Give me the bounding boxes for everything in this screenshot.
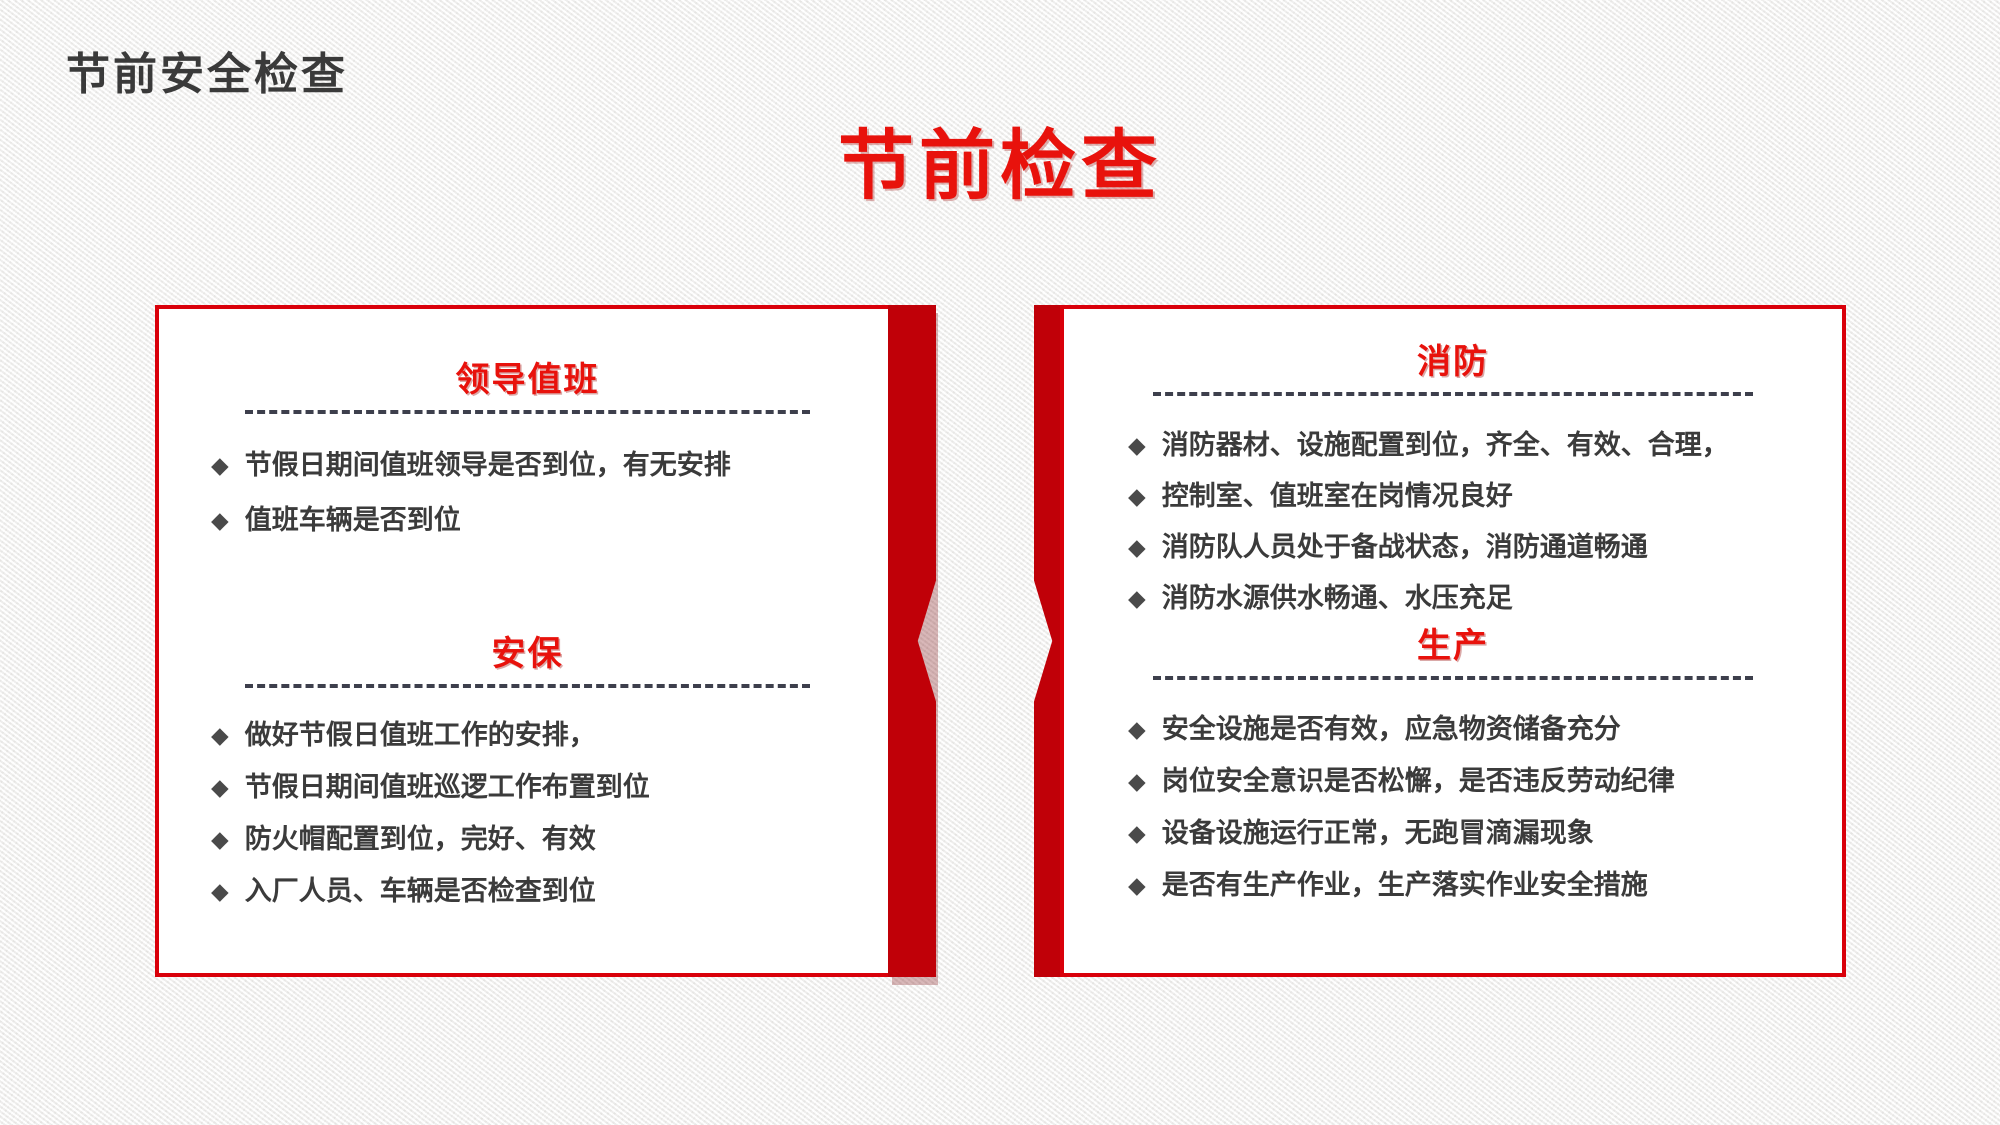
dashed-divider <box>245 684 810 688</box>
list-item: ◆ 值班车辆是否到位 <box>211 507 844 534</box>
list-item: ◆ 防火帽配置到位，完好、有效 <box>211 826 844 853</box>
list-item: ◆ 安全设施是否有效，应急物资储备充分 <box>1128 716 1778 743</box>
bullet-list: ◆ 节假日期间值班领导是否到位，有无安排 ◆ 值班车辆是否到位 <box>211 452 844 534</box>
list-item-label: 消防器材、设施配置到位，齐全、有效、合理， <box>1162 432 1729 459</box>
section-fire-protection: 消防 ◆ 消防器材、设施配置到位，齐全、有效、合理， ◆ 控制室、值班室在岗情况… <box>1064 343 1842 636</box>
section-security: 安保 ◆ 做好节假日值班工作的安排， ◆ 节假日期间值班巡逻工作布置到位 ◆ 防… <box>159 635 896 930</box>
list-item: ◆ 入厂人员、车辆是否检查到位 <box>211 878 844 905</box>
list-item-label: 入厂人员、车辆是否检查到位 <box>245 878 596 905</box>
section-title: 领导值班 <box>211 361 844 400</box>
left-card: 领导值班 ◆ 节假日期间值班领导是否到位，有无安排 ◆ 值班车辆是否到位 安保 <box>155 305 900 977</box>
diamond-bullet-icon: ◆ <box>211 828 229 851</box>
diamond-bullet-icon: ◆ <box>1128 536 1146 559</box>
dashed-divider <box>245 410 810 414</box>
list-item: ◆ 节假日期间值班巡逻工作布置到位 <box>211 774 844 801</box>
diamond-bullet-icon: ◆ <box>211 454 229 477</box>
right-card: 消防 ◆ 消防器材、设施配置到位，齐全、有效、合理， ◆ 控制室、值班室在岗情况… <box>1060 305 1846 977</box>
panels-container: 领导值班 ◆ 节假日期间值班领导是否到位，有无安排 ◆ 值班车辆是否到位 安保 <box>0 305 2000 977</box>
diamond-bullet-icon: ◆ <box>1128 770 1146 793</box>
section-leadership-duty: 领导值班 ◆ 节假日期间值班领导是否到位，有无安排 ◆ 值班车辆是否到位 <box>159 361 896 562</box>
list-item-label: 控制室、值班室在岗情况良好 <box>1162 483 1513 510</box>
diamond-bullet-icon: ◆ <box>211 724 229 747</box>
diamond-bullet-icon: ◆ <box>1128 434 1146 457</box>
diamond-bullet-icon: ◆ <box>1128 485 1146 508</box>
list-item: ◆ 消防队人员处于备战状态，消防通道畅通 <box>1128 534 1778 561</box>
list-item-label: 消防水源供水畅通、水压充足 <box>1162 585 1513 612</box>
diamond-bullet-icon: ◆ <box>1128 587 1146 610</box>
diamond-bullet-icon: ◆ <box>1128 718 1146 741</box>
list-item: ◆ 岗位安全意识是否松懈，是否违反劳动纪律 <box>1128 768 1778 795</box>
slide-canvas: 节前安全检查 节前检查 领导值班 ◆ 节假日期间值班领导是否到位，有无安排 ◆ … <box>0 0 2000 1125</box>
list-item-label: 防火帽配置到位，完好、有效 <box>245 826 596 853</box>
bullet-list: ◆ 安全设施是否有效，应急物资储备充分 ◆ 岗位安全意识是否松懈，是否违反劳动纪… <box>1128 716 1778 899</box>
section-title: 消防 <box>1128 343 1778 382</box>
list-item-label: 是否有生产作业，生产落实作业安全措施 <box>1162 872 1648 899</box>
bullet-list: ◆ 消防器材、设施配置到位，齐全、有效、合理， ◆ 控制室、值班室在岗情况良好 … <box>1128 432 1778 612</box>
bullet-list: ◆ 做好节假日值班工作的安排， ◆ 节假日期间值班巡逻工作布置到位 ◆ 防火帽配… <box>211 722 844 905</box>
diamond-bullet-icon: ◆ <box>211 776 229 799</box>
list-item: ◆ 消防水源供水畅通、水压充足 <box>1128 585 1778 612</box>
list-item: ◆ 控制室、值班室在岗情况良好 <box>1128 483 1778 510</box>
dashed-divider <box>1153 392 1753 396</box>
section-production: 生产 ◆ 安全设施是否有效，应急物资储备充分 ◆ 岗位安全意识是否松懈，是否违反… <box>1064 627 1842 924</box>
list-item: ◆ 是否有生产作业，生产落实作业安全措施 <box>1128 872 1778 899</box>
list-item-label: 值班车辆是否到位 <box>245 507 461 534</box>
list-item-label: 节假日期间值班巡逻工作布置到位 <box>245 774 650 801</box>
corner-title: 节前安全检查 <box>66 38 348 102</box>
list-item: ◆ 消防器材、设施配置到位，齐全、有效、合理， <box>1128 432 1778 459</box>
list-item-label: 节假日期间值班领导是否到位，有无安排 <box>245 452 731 479</box>
list-item-label: 做好节假日值班工作的安排， <box>245 722 596 749</box>
dashed-divider <box>1153 676 1753 680</box>
list-item: ◆ 做好节假日值班工作的安排， <box>211 722 844 749</box>
diamond-bullet-icon: ◆ <box>1128 874 1146 897</box>
page-title: 节前检查 <box>0 104 2000 214</box>
list-item: ◆ 节假日期间值班领导是否到位，有无安排 <box>211 452 844 479</box>
diamond-bullet-icon: ◆ <box>211 509 229 532</box>
list-item-label: 设备设施运行正常，无跑冒滴漏现象 <box>1162 820 1594 847</box>
list-item-label: 岗位安全意识是否松懈，是否违反劳动纪律 <box>1162 768 1675 795</box>
diamond-bullet-icon: ◆ <box>1128 822 1146 845</box>
list-item-label: 安全设施是否有效，应急物资储备充分 <box>1162 716 1621 743</box>
list-item: ◆ 设备设施运行正常，无跑冒滴漏现象 <box>1128 820 1778 847</box>
list-item-label: 消防队人员处于备战状态，消防通道畅通 <box>1162 534 1648 561</box>
diamond-bullet-icon: ◆ <box>211 880 229 903</box>
section-title: 安保 <box>211 635 844 674</box>
section-title: 生产 <box>1128 627 1778 666</box>
